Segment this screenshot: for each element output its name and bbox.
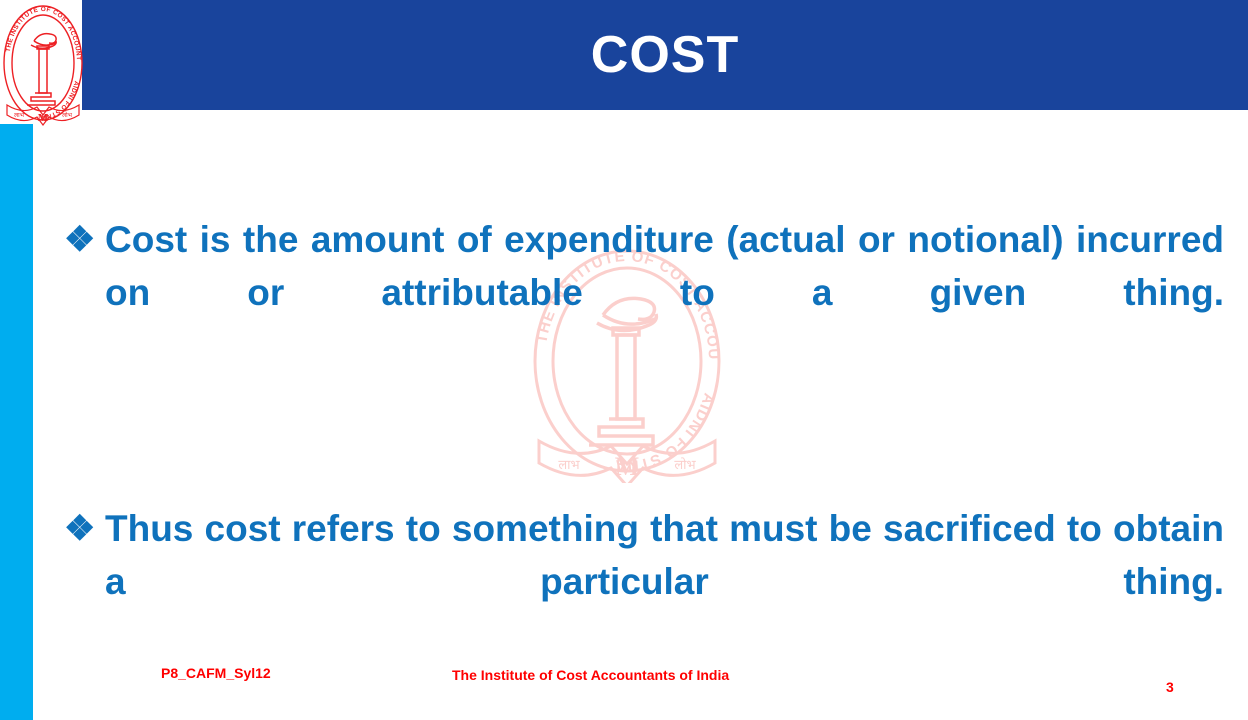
svg-text:लोभ: लोभ bbox=[62, 111, 73, 119]
slide-title: COST bbox=[82, 0, 1248, 110]
slide-page-number: 3 bbox=[1166, 679, 1174, 695]
footer-course-code: P8_CAFM_Syl12 bbox=[161, 665, 271, 681]
institute-logo-icon: THE INSTITUTE OF COST ACCOUNT AIDNI FO S… bbox=[1, 1, 85, 127]
title-banner: COST bbox=[82, 0, 1248, 110]
svg-text:M: M bbox=[38, 112, 49, 124]
presentation-slide: COST THE INSTITUTE OF COST ACCOUNT AIDNI… bbox=[0, 0, 1248, 720]
footer-organisation: The Institute of Cost Accountants of Ind… bbox=[452, 667, 729, 683]
bullet-item: ❖Thus cost refers to something that must… bbox=[64, 502, 1224, 661]
diamond-bullet-icon: ❖ bbox=[64, 502, 105, 555]
slide-body: ❖Cost is the amount of expenditure (actu… bbox=[64, 176, 1224, 596]
bullet-item-text: Cost is the amount of expenditure (actua… bbox=[105, 219, 1224, 313]
bullet-item: ❖Cost is the amount of expenditure (actu… bbox=[64, 213, 1224, 372]
svg-text:लाभ: लाभ bbox=[14, 113, 25, 119]
bullet-item-text: Thus cost refers to something that must … bbox=[105, 508, 1224, 602]
diamond-bullet-icon: ❖ bbox=[64, 213, 105, 266]
left-accent-strip bbox=[0, 124, 33, 720]
